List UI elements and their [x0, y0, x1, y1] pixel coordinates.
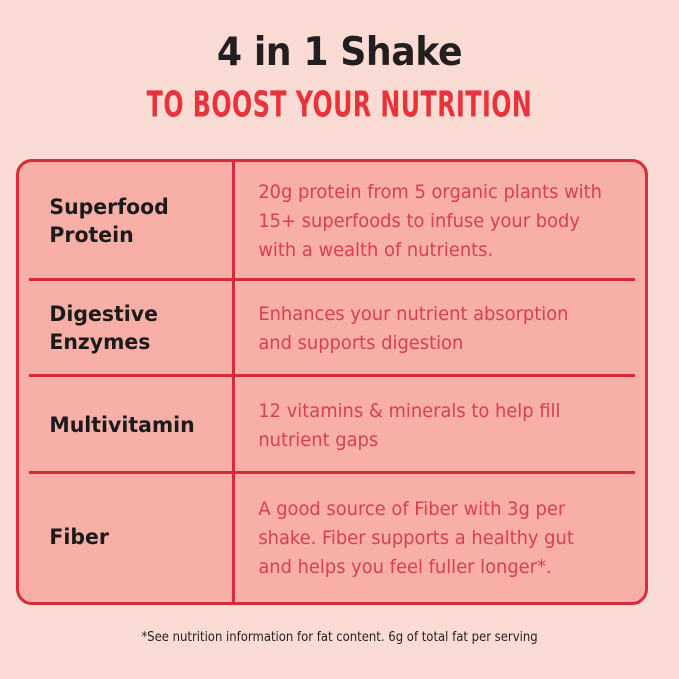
- table-row-description: Enhances your nutrient absorption and su…: [232, 300, 620, 358]
- footnote: *See nutrition information for fat conte…: [14, 628, 666, 646]
- table-row: Superfood Protein 20g protein from 5 org…: [19, 162, 645, 281]
- table-row-description: 20g protein from 5 organic plants with 1…: [232, 178, 620, 265]
- table-row-label: Digestive Enzymes: [19, 301, 221, 357]
- table-row: Digestive Enzymes Enhances your nutrient…: [19, 281, 645, 377]
- table-row-label: Superfood Protein: [19, 194, 221, 250]
- table-row: Fiber A good source of Fiber with 3g per…: [19, 474, 645, 602]
- table-row-label: Multivitamin: [19, 412, 221, 440]
- header-block: 4 in 1 Shake TO BOOST YOUR NUTRiTION: [0, 30, 679, 122]
- infographic-page: 4 in 1 Shake TO BOOST YOUR NUTRiTION Sup…: [0, 0, 679, 679]
- benefits-table: Superfood Protein 20g protein from 5 org…: [16, 159, 648, 605]
- table-row: Multivitamin 12 vitamins & minerals to h…: [19, 377, 645, 474]
- table-row-description: 12 vitamins & minerals to help fill nutr…: [232, 397, 620, 455]
- table-row-description: A good source of Fiber with 3g per shake…: [232, 495, 620, 582]
- column-divider: [232, 162, 235, 602]
- page-title: 4 in 1 Shake: [24, 30, 655, 76]
- table-row-label: Fiber: [19, 524, 221, 552]
- page-subtitle: TO BOOST YOUR NUTRiTION: [68, 84, 611, 125]
